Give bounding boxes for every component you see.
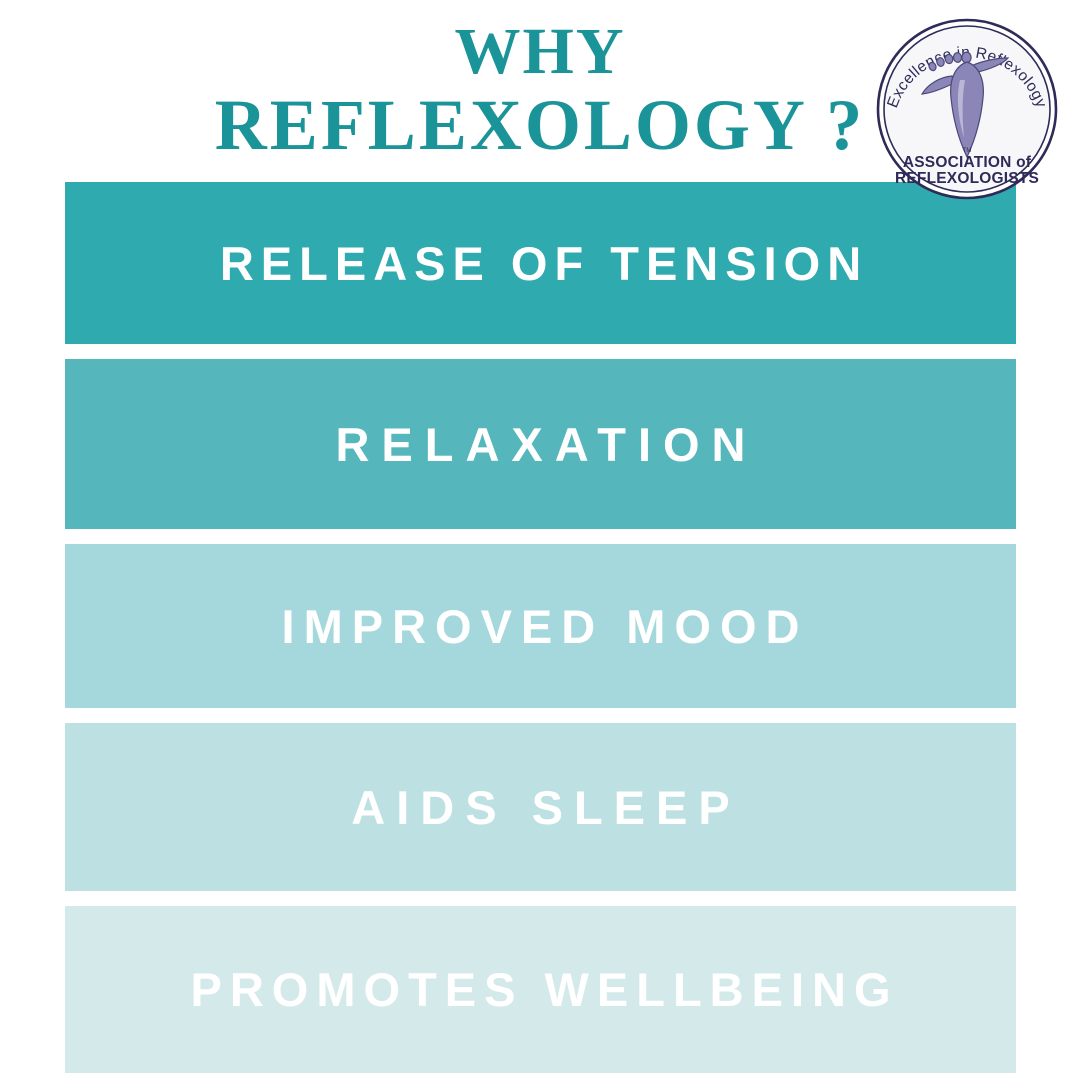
benefit-bar-promotes-wellbeing: PROMOTES WELLBEING	[65, 906, 1016, 1073]
benefit-bar-improved-mood: IMPROVED MOOD	[65, 544, 1016, 708]
benefit-label: AIDS SLEEP	[340, 784, 740, 831]
benefit-bar-aids-sleep: AIDS SLEEP	[65, 723, 1016, 891]
benefit-label: PROMOTES WELLBEING	[183, 966, 899, 1013]
benefits-list: RELEASE OF TENSION RELAXATION IMPROVED M…	[65, 182, 1016, 1073]
logo-badge-icon: Excellence in Reflexology TM	[872, 14, 1062, 204]
benefit-bar-relaxation: RELAXATION	[65, 359, 1016, 529]
logo-wordmark-line-1: ASSOCIATION of	[903, 154, 1032, 171]
association-of-reflexologists-logo: Excellence in Reflexology TM	[872, 14, 1062, 204]
reflexology-benefits-poster: WHY REFLEXOLOGY ? Excellence in Reflexol…	[0, 0, 1080, 1080]
benefit-label: RELEASE OF TENSION	[213, 240, 868, 287]
benefit-label: IMPROVED MOOD	[273, 603, 809, 650]
benefit-bar-release-of-tension: RELEASE OF TENSION	[65, 182, 1016, 344]
logo-wordmark-line-2: REFLEXOLOGISTS	[895, 170, 1039, 187]
benefit-label: RELAXATION	[323, 421, 757, 468]
